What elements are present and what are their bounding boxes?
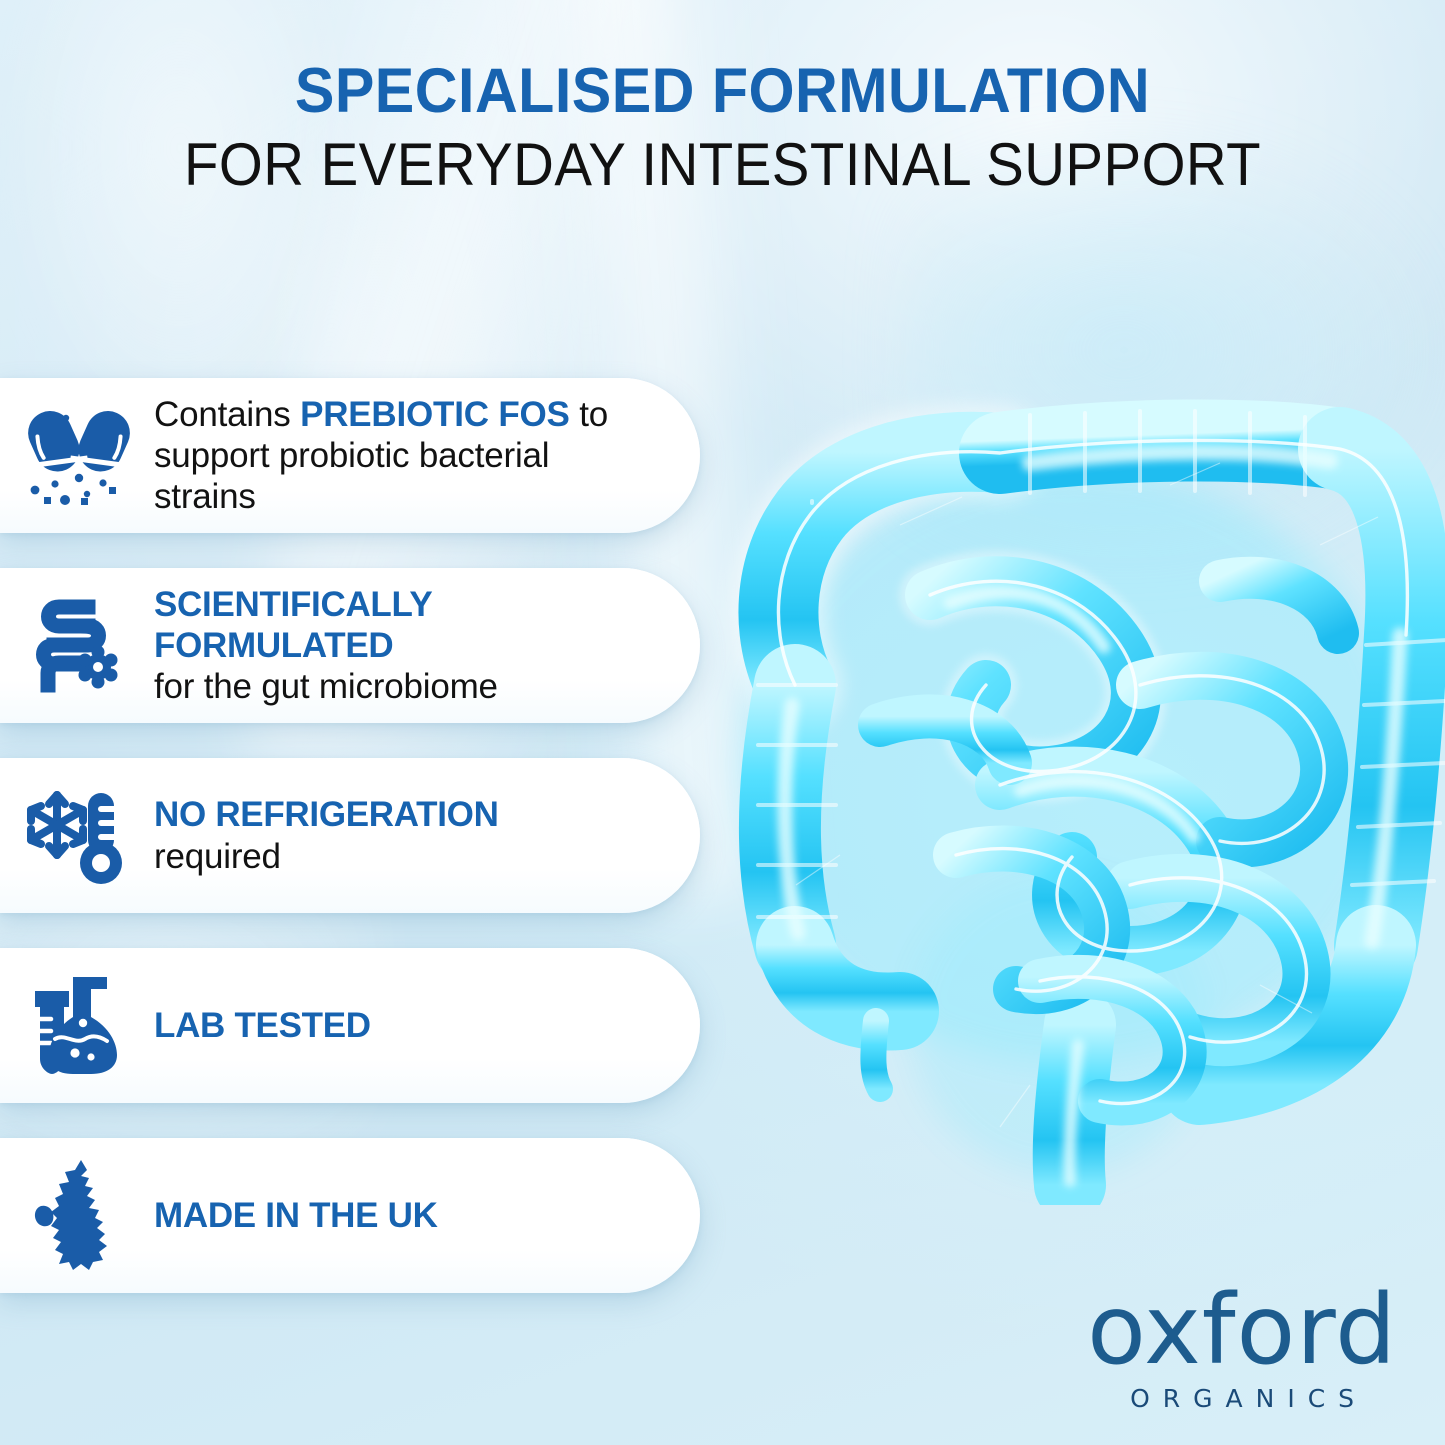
snowflake-thermometer-icon <box>4 776 154 896</box>
uk-map-icon <box>4 1156 154 1276</box>
feature-tail: required <box>154 836 660 877</box>
title-line-secondary: FOR EVERYDAY INTESTINAL SUPPORT <box>43 130 1401 199</box>
intestine-illustration <box>700 385 1445 1205</box>
feature-card-prebiotic-fos[interactable]: Contains PREBIOTIC FOS to support probio… <box>0 378 700 533</box>
feature-card-text: MADE IN THE UK <box>154 1195 700 1236</box>
page-title: SPECIALISED FORMULATION FOR EVERYDAY INT… <box>0 58 1445 199</box>
feature-card-no-refrigeration[interactable]: NO REFRIGERATION required <box>0 758 700 913</box>
feature-card-text: LAB TESTED <box>154 1005 700 1046</box>
infographic-canvas: SPECIALISED FORMULATION FOR EVERYDAY INT… <box>0 0 1445 1445</box>
feature-card-made-in-uk[interactable]: MADE IN THE UK <box>0 1138 700 1293</box>
capsules-icon <box>4 396 154 516</box>
feature-card-scientifically-formulated[interactable]: SCIENTIFICALLY FORMULATED for the gut mi… <box>0 568 700 723</box>
feature-card-list: Contains PREBIOTIC FOS to support probio… <box>0 378 712 1328</box>
intestine-microbiome-icon <box>4 586 154 706</box>
title-line-primary: SPECIALISED FORMULATION <box>43 58 1401 124</box>
brand-logo: oxford ORGANICS <box>1087 1285 1397 1413</box>
feature-lead: Contains <box>154 395 300 434</box>
feature-card-text: NO REFRIGERATION required <box>154 794 700 877</box>
feature-tail: for the gut microbiome <box>154 666 660 707</box>
lab-flask-icon <box>4 966 154 1086</box>
feature-emphasis: MADE IN THE UK <box>154 1195 660 1236</box>
feature-emphasis: LAB TESTED <box>154 1005 660 1046</box>
feature-card-text: SCIENTIFICALLY FORMULATED for the gut mi… <box>154 584 700 708</box>
feature-emphasis: NO REFRIGERATION <box>154 794 660 835</box>
feature-emphasis: PREBIOTIC FOS <box>300 395 570 434</box>
brand-tagline: ORGANICS <box>1087 1384 1410 1413</box>
feature-card-lab-tested[interactable]: LAB TESTED <box>0 948 700 1103</box>
brand-name: oxford <box>1087 1285 1397 1376</box>
feature-emphasis: SCIENTIFICALLY FORMULATED <box>154 584 660 667</box>
feature-card-text: Contains PREBIOTIC FOS to support probio… <box>154 394 700 518</box>
